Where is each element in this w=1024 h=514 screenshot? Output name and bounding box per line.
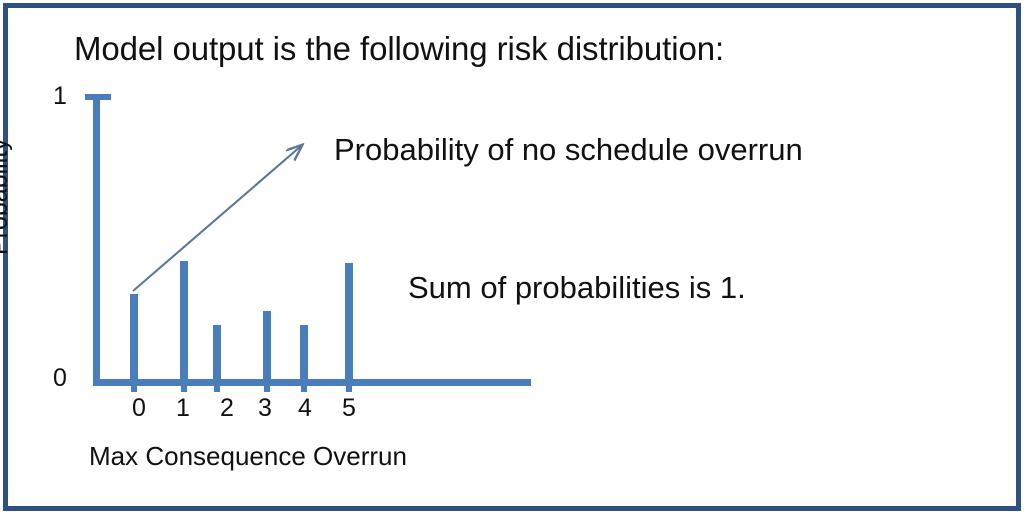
x-tick-mark-4 [301,380,307,392]
slide-canvas: Model output is the following risk distr… [0,0,1024,514]
x-tick-mark-1 [181,380,187,392]
page-title: Model output is the following risk distr… [74,32,724,65]
x-tick-label-1: 1 [168,396,198,421]
bar-3 [263,311,271,386]
y-axis-line [93,97,100,386]
bar-0 [130,294,138,386]
x-tick-mark-0 [131,380,137,392]
x-tick-label-0: 0 [124,396,154,421]
x-axis-line [93,379,531,386]
y-axis-label: Probability [0,138,12,255]
annotation-sum-of-probabilities: Sum of probabilities is 1. [408,272,746,303]
y-tick-label-min: 0 [53,366,67,391]
bar-2 [213,325,221,386]
x-tick-label-4: 4 [290,396,320,421]
pointer-arrow-icon [0,0,1024,514]
x-tick-mark-3 [264,380,270,392]
x-tick-label-5: 5 [334,396,364,421]
bar-1 [180,261,188,386]
x-tick-mark-2 [214,380,220,392]
bar-4 [300,325,308,386]
bar-5 [345,263,353,386]
y-tick-label-max: 1 [53,84,67,109]
x-tick-mark-5 [346,380,352,392]
x-axis-label: Max Consequence Overrun [89,443,407,469]
annotation-probability-no-overrun: Probability of no schedule overrun [334,134,803,165]
x-tick-label-3: 3 [250,396,280,421]
slide-content: Model output is the following risk distr… [0,0,1024,514]
x-tick-label-2: 2 [212,396,242,421]
